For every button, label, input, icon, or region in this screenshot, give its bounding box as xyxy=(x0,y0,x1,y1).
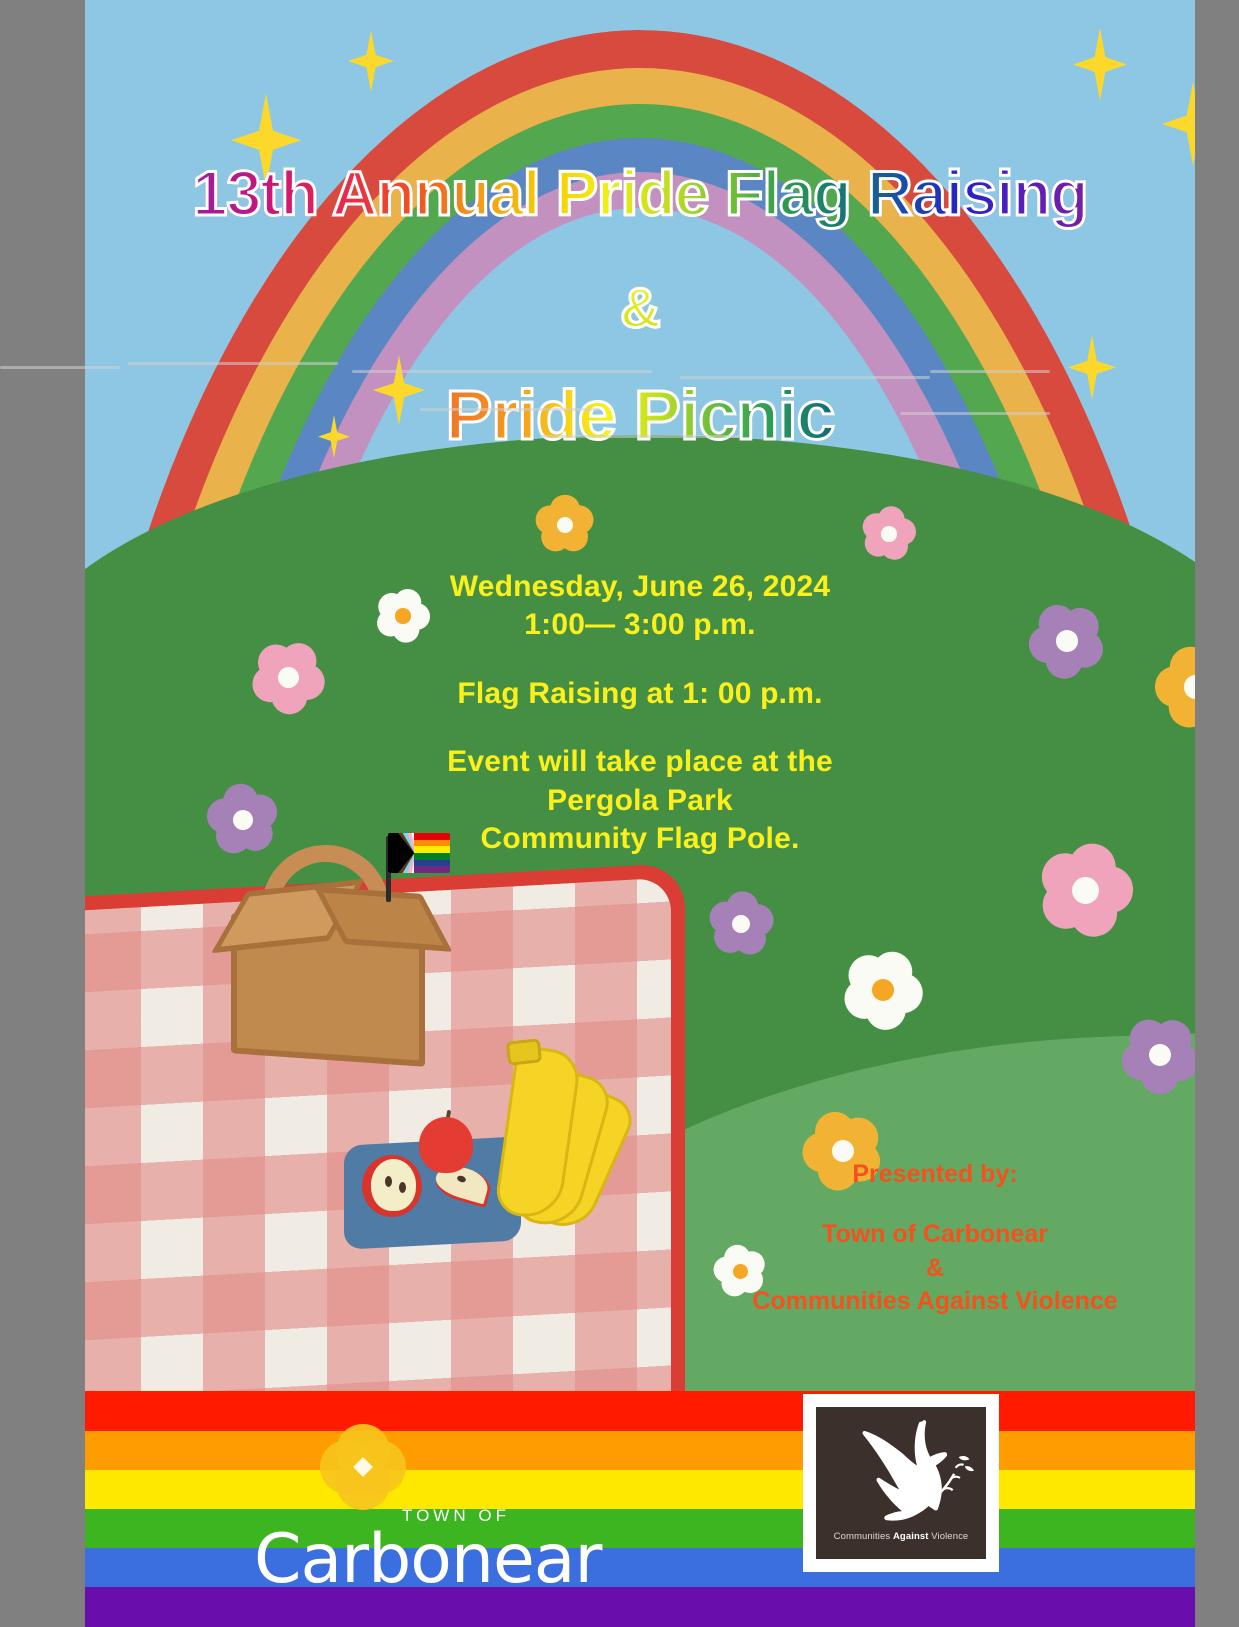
flower-center xyxy=(395,608,411,624)
cav-logo-panel: Communities Against Violence xyxy=(816,1407,986,1559)
event-details: Wednesday, June 26, 2024 1:00— 3:00 p.m.… xyxy=(355,568,925,858)
communities-against-violence-logo: Communities Against Violence xyxy=(803,1394,999,1572)
flower-icon xyxy=(209,786,277,854)
apple-seed xyxy=(385,1176,392,1187)
flower-icon xyxy=(863,508,915,560)
poster-canvas: 13th Annual Pride Flag Raising & Pride P… xyxy=(0,0,1239,1627)
flag-raising-time: Flag Raising at 1: 00 p.m. xyxy=(355,675,925,713)
flower-center xyxy=(733,1264,748,1279)
event-time: 1:00— 3:00 p.m. xyxy=(355,606,925,644)
pride-flag-chevron xyxy=(388,833,414,873)
presented-by-block: Presented by: Town of Carbonear & Commun… xyxy=(685,1158,1185,1319)
poster-artwork: 13th Annual Pride Flag Raising & Pride P… xyxy=(85,0,1195,1627)
flower-icon xyxy=(845,952,921,1028)
page-title: 13th Annual Pride Flag Raising xyxy=(85,158,1195,230)
details-spacer-1 xyxy=(355,645,925,675)
title-ampersand-text: & xyxy=(620,276,659,339)
watermark-streak xyxy=(0,366,120,369)
presented-by-heading: Presented by: xyxy=(685,1158,1185,1192)
event-date: Wednesday, June 26, 2024 xyxy=(355,568,925,606)
flower-icon xyxy=(1123,1018,1195,1092)
flower-icon xyxy=(253,642,323,712)
watermark-streak xyxy=(900,412,1050,415)
banana-bunch-stem xyxy=(506,1038,542,1065)
flower-center xyxy=(1149,1044,1171,1066)
watermark-streak xyxy=(930,370,1050,373)
presenter-org-1: Town of Carbonear xyxy=(685,1218,1185,1252)
flower-center xyxy=(1072,877,1099,904)
flower-icon xyxy=(1157,648,1195,726)
flower-icon xyxy=(537,497,593,553)
watermark-streak xyxy=(420,408,600,411)
page-subtitle-text: Pride Picnic xyxy=(446,376,835,454)
presenter-org-2: Communities Against Violence xyxy=(685,1285,1185,1319)
presenter-ampersand: & xyxy=(685,1252,1185,1286)
carbonear-bloom-icon xyxy=(320,1424,406,1510)
apple-half-flesh xyxy=(371,1159,416,1211)
town-of-carbonear-logo: TOWN OF Carbonear xyxy=(230,1424,580,1594)
apple-seed xyxy=(399,1182,406,1193)
presented-spacer xyxy=(685,1192,1185,1218)
cav-caption-part-2: Violence xyxy=(929,1531,969,1542)
flower-center xyxy=(278,667,299,688)
page-title-text: 13th Annual Pride Flag Raising xyxy=(192,159,1087,229)
title-ampersand: & xyxy=(85,275,1195,340)
flower-center xyxy=(881,526,897,542)
watermark-streak xyxy=(352,370,652,373)
watermark-streak xyxy=(540,435,740,438)
flower-icon xyxy=(710,893,772,955)
apple-whole xyxy=(419,1117,473,1173)
flower-icon xyxy=(1040,845,1130,935)
right-gutter xyxy=(1195,0,1239,1627)
cav-caption-part-1: Communities xyxy=(834,1531,893,1542)
progress-pride-flag-icon xyxy=(388,833,450,873)
details-spacer-2 xyxy=(355,713,925,743)
cav-logo-caption: Communities Against Violence xyxy=(816,1531,986,1542)
event-location-line-2: Pergola Park xyxy=(355,782,925,820)
watermark-streak xyxy=(128,362,338,365)
flower-icon xyxy=(1031,605,1103,677)
watermark-streak xyxy=(680,376,930,379)
flower-center xyxy=(1056,630,1078,652)
page-subtitle: Pride Picnic xyxy=(85,375,1195,455)
cav-caption-bold: Against xyxy=(893,1531,929,1542)
carbonear-logo-name: Carbonear xyxy=(254,1520,601,1599)
event-location-line-1: Event will take place at the xyxy=(355,743,925,781)
